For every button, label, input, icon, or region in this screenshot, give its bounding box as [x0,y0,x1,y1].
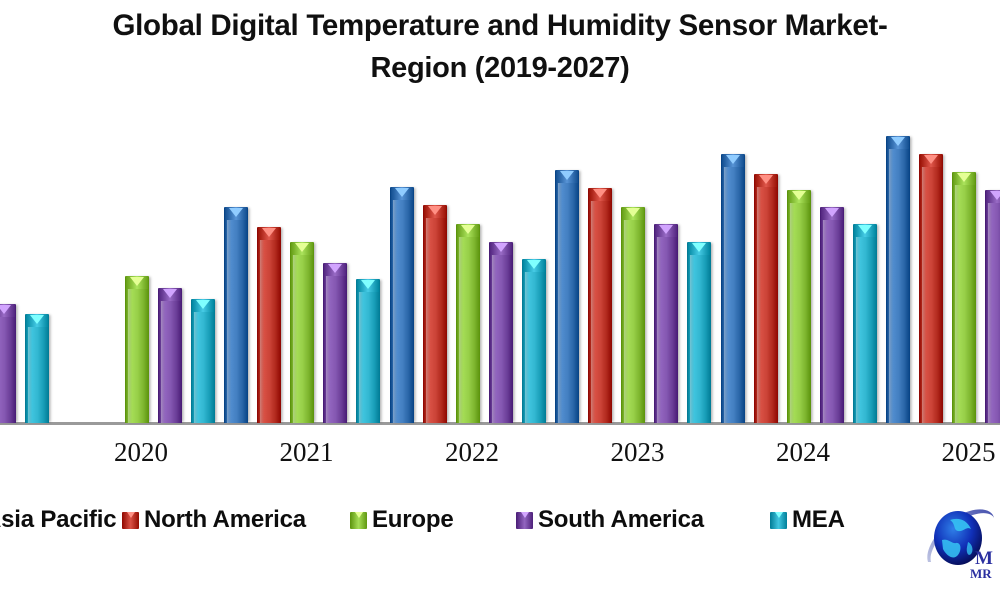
bar-highlight [690,243,694,423]
bar-2021-europe[interactable] [290,242,314,423]
bar-highlight [657,225,661,423]
bar-cap [755,174,777,187]
bar-cap-chevron [858,225,872,234]
bar-cap [589,188,611,201]
bar-cap-chevron [163,289,177,298]
bar-highlight [922,155,926,423]
bar-cap [887,136,909,149]
bar-highlight [790,191,794,423]
bar-cap [457,224,479,237]
bar-highlight [757,175,761,423]
legend-label: North America [144,506,306,534]
bar-highlight [591,189,595,423]
legend-swatch-chevron [127,512,135,518]
bar-highlight [393,188,397,423]
bar-2023-south-america[interactable] [654,224,678,423]
bar-2021-north-america[interactable] [257,227,281,423]
bar-cap [688,242,710,255]
bar-cap [26,314,48,327]
bar-cap [655,224,677,237]
legend-swatch-chevron [521,512,529,518]
bar-cap-chevron [229,208,243,217]
bar-cap-chevron [759,175,773,184]
bar-cap [920,154,942,167]
bar-2019-mea[interactable] [25,314,49,423]
bar-highlight [988,191,992,423]
bar-highlight [823,208,827,423]
bar-2023-europe[interactable] [621,207,645,423]
bar-highlight [359,280,363,423]
legend-item-mea[interactable]: MEA [770,506,845,534]
bar-cap-chevron [30,315,44,324]
bar-2023-asia-pacific[interactable] [555,170,579,423]
bar-cap [324,263,346,276]
legend-item-south-america[interactable]: South America [516,506,704,534]
legend-swatch-icon [516,512,533,529]
bar-cap-chevron [560,171,574,180]
chart-container: Global Digital Temperature and Humidity … [0,0,1000,600]
bar-cap [523,259,545,272]
bar-cap [986,190,1000,203]
bar-cap [0,304,15,317]
bar-2022-europe[interactable] [456,224,480,423]
bar-cap-chevron [295,243,309,252]
bar-cap-chevron [0,305,11,314]
bar-2022-mea[interactable] [522,259,546,423]
bar-highlight [525,260,529,423]
bar-highlight [128,277,132,423]
bar-cap-chevron [196,300,210,309]
bar-cap-chevron [692,243,706,252]
bar-cap-chevron [924,155,938,164]
bar-cap-chevron [361,280,375,289]
bar-cap-chevron [395,188,409,197]
bar-2024-mea[interactable] [853,224,877,423]
bar-2021-asia-pacific[interactable] [224,207,248,423]
bar-2023-north-america[interactable] [588,188,612,423]
bar-2021-mea[interactable] [356,279,380,423]
bar-2020-mea[interactable] [191,299,215,423]
bar-cap-chevron [825,208,839,217]
bar-highlight [426,206,430,423]
bar-cap-chevron [527,260,541,269]
bar-highlight [293,243,297,423]
bar-cap-chevron [891,137,905,146]
bar-cap-chevron [957,173,971,182]
bar-2025-south-america[interactable] [985,190,1000,423]
bar-2025-north-america[interactable] [919,154,943,423]
bar-cap-chevron [792,191,806,200]
bar-2020-europe[interactable] [125,276,149,423]
mmr-globe-logo: M MR [922,500,996,582]
bar-cap [556,170,578,183]
bar-cap [192,299,214,312]
bar-highlight [227,208,231,423]
bar-highlight [558,171,562,423]
bar-2022-north-america[interactable] [423,205,447,423]
bar-2024-europe[interactable] [787,190,811,423]
bar-2025-europe[interactable] [952,172,976,423]
bar-cap [357,279,379,292]
bar-highlight [492,243,496,423]
legend-label: South America [538,506,704,534]
globe-icon: M MR [922,500,996,582]
bar-cap-chevron [626,208,640,217]
legend-label: Europe [372,506,453,534]
bar-highlight [955,173,959,423]
legend-swatch-icon [770,512,787,529]
bar-2024-south-america[interactable] [820,207,844,423]
bar-highlight [889,137,893,423]
bar-cap [788,190,810,203]
bar-body [0,304,16,423]
bar-cap-chevron [593,189,607,198]
bar-cap-chevron [461,225,475,234]
bar-cap-chevron [990,191,1000,200]
legend-item-europe[interactable]: Europe [350,506,453,534]
bar-cap [622,207,644,220]
x-axis-label-2025: 2025 [866,437,1000,468]
bar-cap [126,276,148,289]
bar-highlight [28,315,32,423]
bar-2021-south-america[interactable] [323,263,347,423]
bar-2022-asia-pacific[interactable] [390,187,414,423]
bar-cap [159,288,181,301]
bar-2025-asia-pacific[interactable] [886,136,910,423]
bar-cap [953,172,975,185]
logo-letter-mr: MR [970,566,992,581]
legend-item-asia-pacific[interactable]: Asia Pacific [0,506,116,534]
bar-2024-north-america[interactable] [754,174,778,423]
legend-label: MEA [792,506,845,534]
bar-cap [391,187,413,200]
bar-2019-south-america[interactable] [0,304,16,423]
bar-highlight [459,225,463,423]
bar-cap-chevron [659,225,673,234]
bar-2023-mea[interactable] [687,242,711,423]
bar-highlight [724,155,728,423]
bar-highlight [194,300,198,423]
bar-highlight [161,289,165,423]
bar-cap-chevron [494,243,508,252]
bar-cap [258,227,280,240]
bar-cap [225,207,247,220]
bar-2024-asia-pacific[interactable] [721,154,745,423]
bar-cap [722,154,744,167]
bar-cap [291,242,313,255]
bar-highlight [326,264,330,423]
bar-cap-chevron [262,228,276,237]
legend-swatch-icon [122,512,139,529]
bar-cap [424,205,446,218]
legend-item-north-america[interactable]: North America [122,506,306,534]
legend-swatch-chevron [355,512,363,518]
bar-cap-chevron [428,206,442,215]
bar-highlight [260,228,264,423]
legend-swatch-chevron [775,512,783,518]
bar-cap-chevron [130,277,144,286]
bar-highlight [856,225,860,423]
bar-cap [821,207,843,220]
legend-swatch-icon [350,512,367,529]
bar-cap-chevron [726,155,740,164]
bar-2022-south-america[interactable] [489,242,513,423]
bar-cap [854,224,876,237]
bar-highlight [624,208,628,423]
bar-cap [490,242,512,255]
bar-2020-south-america[interactable] [158,288,182,423]
legend-label: Asia Pacific [0,506,116,534]
bar-cap-chevron [328,264,342,273]
chart-legend: Asia PacificNorth AmericaEuropeSouth Ame… [0,506,1000,558]
